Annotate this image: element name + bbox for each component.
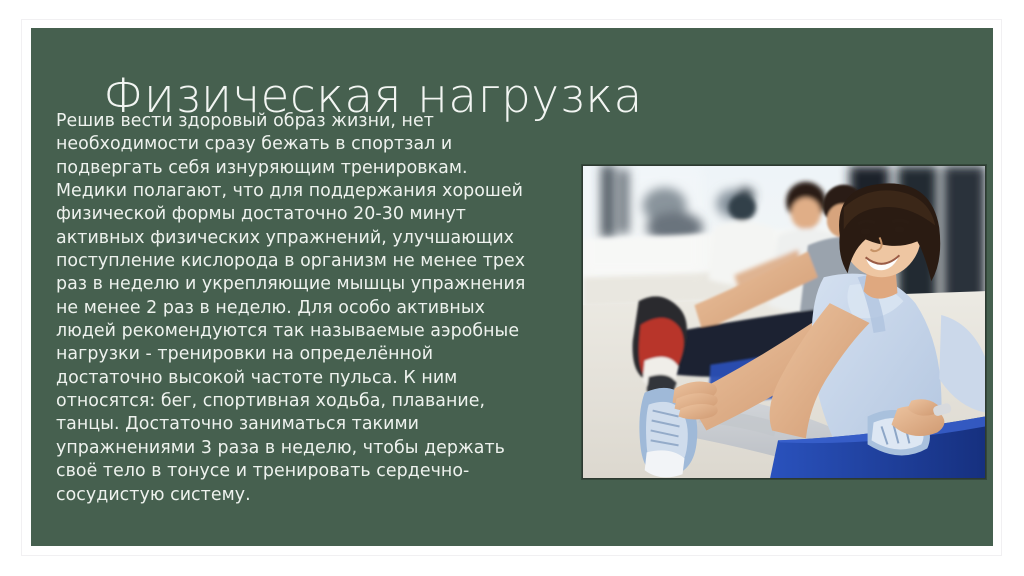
photo-illustration <box>583 166 985 478</box>
slide-body-text: Решив вести здоровый образ жизни, нет не… <box>56 110 540 507</box>
slide-canvas: Физическая нагрузка Решив вести здоровый… <box>0 0 1024 576</box>
slide-background: Физическая нагрузка Решив вести здоровый… <box>31 28 993 546</box>
gym-stretching-photo <box>582 165 986 479</box>
